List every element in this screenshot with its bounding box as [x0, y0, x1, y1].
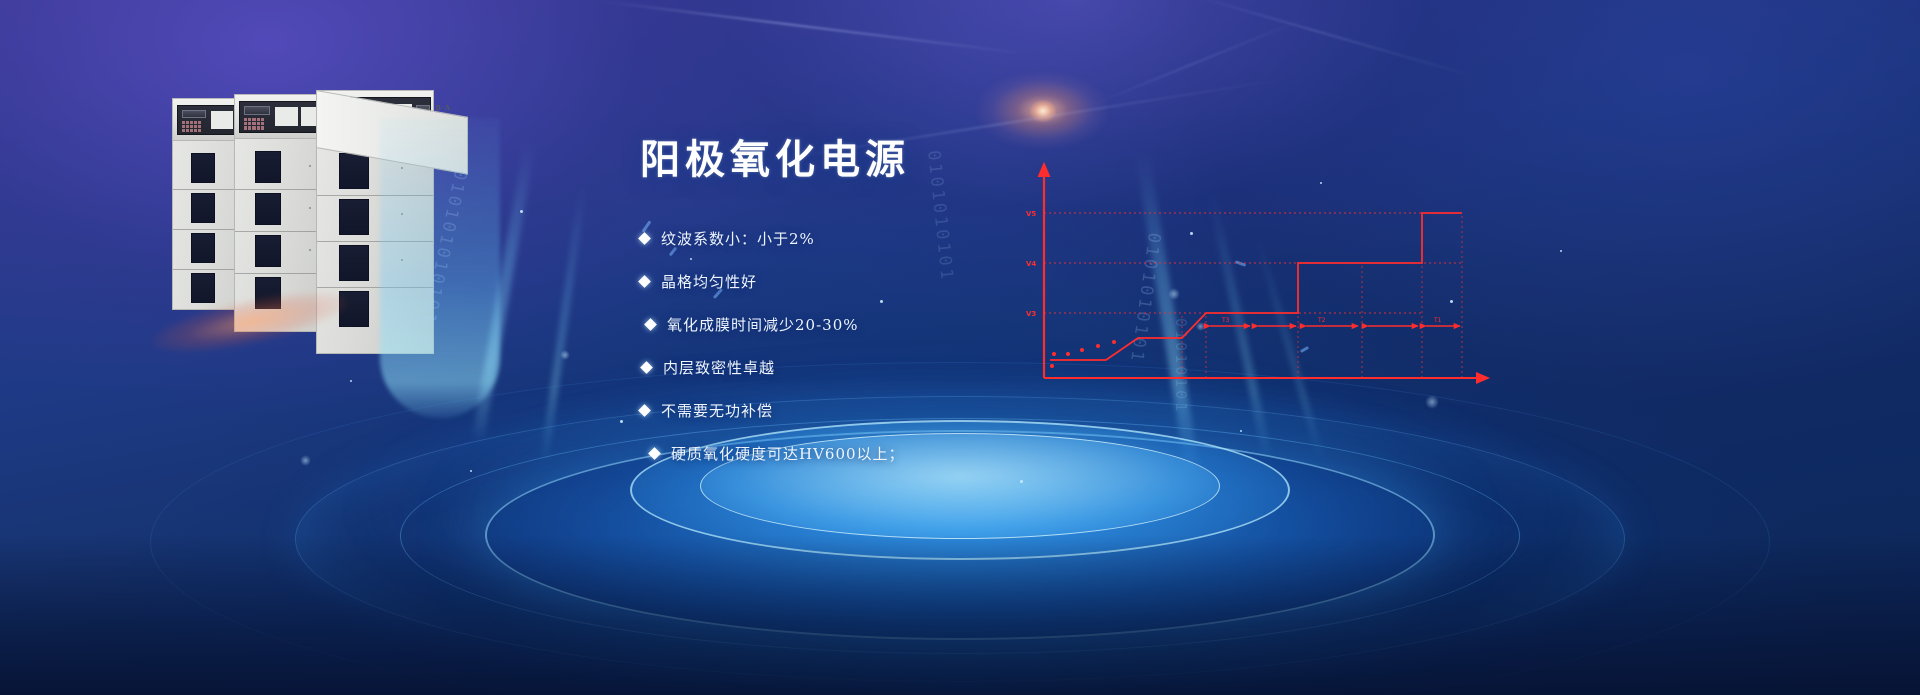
cabinet-middle-vent-1: [255, 151, 281, 183]
cabinet-left-vent-3: [191, 233, 215, 263]
diamond-bullet-icon: [638, 404, 651, 417]
chart-data-markers: [1050, 340, 1116, 368]
particle: [1240, 430, 1242, 432]
chart-xtick-t1: T1: [1433, 317, 1442, 324]
cabinet-right-vent-2: [339, 199, 369, 235]
chart-svg: V5 V4 V3 T3 T2 T1: [1010, 150, 1510, 400]
cabinet-right-vent-3: [339, 245, 369, 281]
cabinet-left-keypad: [182, 121, 201, 132]
ground-fade: [0, 535, 1920, 695]
bokeh-particle: [300, 455, 311, 466]
cabinet-left-label-a: [211, 111, 233, 129]
light-beam-2: [541, 181, 588, 459]
bokeh-particle: [560, 350, 570, 360]
chart-series-staircase: [1050, 213, 1462, 360]
chart-xtick-t3: T3: [1221, 317, 1230, 324]
feature-text: 不需要无功补偿: [661, 400, 773, 421]
feature-text: 晶格均匀性好: [661, 271, 757, 292]
cabinet-right-vent-4: [339, 291, 369, 327]
voltage-time-chart: V5 V4 V3 T3 T2 T1: [1010, 150, 1510, 400]
diamond-bullet-icon: [638, 275, 651, 288]
cabinet-middle-display: [244, 106, 270, 115]
cabinet-middle-keypad: [244, 118, 264, 130]
diamond-bullet-icon: [640, 361, 653, 374]
chart-xtick-t2: T2: [1317, 317, 1326, 324]
light-streak-3: [1186, 0, 1475, 77]
flare-core-decoration: [1030, 100, 1056, 122]
cabinet-middle-vent-4: [255, 277, 281, 309]
cabinet-middle-screw-3: [309, 249, 311, 251]
particle: [620, 420, 623, 423]
chart-ytick-v4: V4: [1026, 260, 1036, 268]
feature-text: 氧化成膜时间减少20-30%: [667, 314, 859, 335]
feature-text: 内层致密性卓越: [663, 357, 775, 378]
particle: [1560, 250, 1562, 252]
diamond-bullet-icon: [644, 318, 657, 331]
chart-ytick-v3: V3: [1026, 310, 1036, 318]
cabinet-left-vent-2: [191, 193, 215, 223]
cabinet-middle-vent-2: [255, 193, 281, 225]
chart-ytick-v5: V5: [1026, 210, 1036, 218]
cabinet-left-display: [182, 110, 206, 118]
cabinet-middle-screw-1: [309, 165, 311, 167]
list-item: 不需要无功补偿: [640, 400, 1200, 421]
diamond-bullet-icon: [638, 232, 651, 245]
diamond-bullet-icon: [648, 447, 661, 460]
light-streak-4: [1088, 15, 1311, 107]
particle: [470, 470, 472, 472]
cabinet-middle-screw-2: [309, 207, 311, 209]
cabinet-left-vent-1: [191, 153, 215, 183]
feature-text: 纹波系数小：小于2%: [661, 228, 815, 249]
cabinet-middle-label-a: [275, 107, 298, 126]
feature-text: 硬质氧化硬度可达HV600以上；: [671, 443, 905, 464]
light-streak-1: [601, 0, 1018, 53]
cabinet-left-vent-4: [191, 273, 215, 303]
cabinet-right-vent-1: [339, 153, 369, 189]
cabinet-brand-mark: B·A: [436, 104, 451, 112]
list-item: 硬质氧化硬度可达HV600以上；: [650, 443, 1200, 464]
particle: [350, 380, 352, 382]
banner-root: B·A 010101010101 0101010101 0101010101 0…: [0, 0, 1920, 695]
cabinet-middle-vent-3: [255, 235, 281, 267]
particle: [520, 210, 523, 213]
